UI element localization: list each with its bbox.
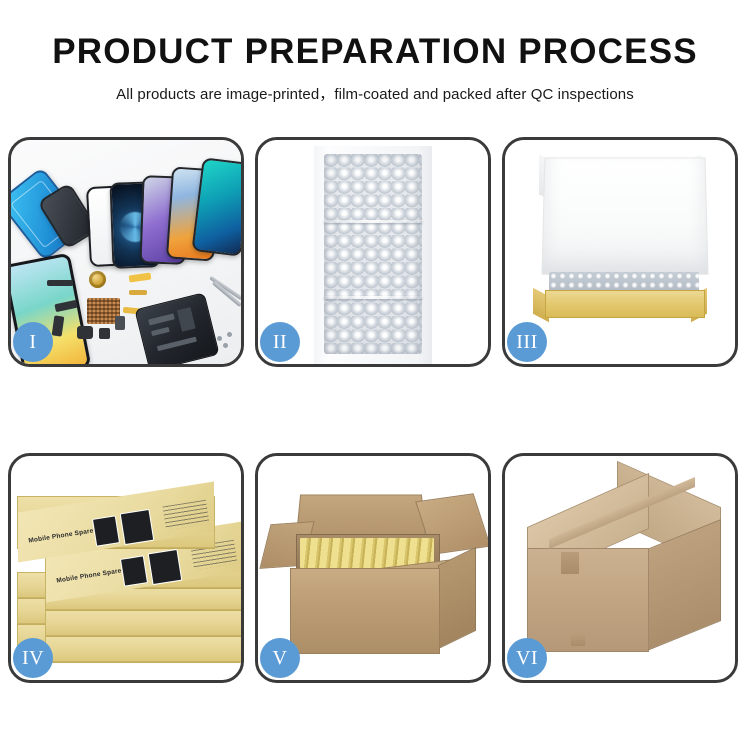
copper-coil-icon [89,271,106,288]
kraft-box-edge-icon [45,608,241,636]
vibrator-icon [115,316,125,330]
carton-flap-back-icon [296,494,427,539]
kraft-tray-front-icon [545,290,705,318]
step-badge-3: III [507,322,547,362]
page-title: PRODUCT PREPARATION PROCESS [0,34,750,71]
bubble-wrap-film-icon [314,146,432,364]
step-badge-2: II [260,322,300,362]
step-panel-6[interactable]: Sealed and taped shipping carton ready f… [502,453,738,683]
step-badge-6: VI [507,638,547,678]
step-badge-1: I [13,322,53,362]
carton-flap-tab-icon [571,634,585,646]
step-badge-4: IV [13,638,53,678]
step-badge-5: V [260,638,300,678]
process-steps-grid: Mobile phone screens and spare parts lai… [8,137,742,683]
kraft-box-stack-icon: Mobile Phone Spare Parts Mobile Phone Sp… [17,474,241,670]
screw-icon [227,332,232,337]
white-box-lid-icon [541,157,708,274]
kraft-box-product-image [120,509,155,545]
page-subtitle: All products are image-printed，film-coat… [0,83,750,104]
kraft-box-labelled-icon: Mobile Phone Spare Parts [17,496,215,548]
bubble-wrap-sheet-icon [324,154,422,354]
bubble-wrap-seam-icon [324,296,422,299]
step-panel-1[interactable]: Mobile phone screens and spare parts lai… [8,137,244,367]
speaker-icon [77,326,93,339]
carton-side-face-icon [438,547,476,650]
step-panel-3[interactable]: Bubble wrapped items placed in white and… [502,137,738,367]
camera-module-icon [99,328,110,339]
carton-front-face-icon [527,548,649,652]
step-panel-4[interactable]: Mobile Phone Spare Parts Mobile Phone Sp… [8,453,244,683]
kraft-box-product-image [92,515,120,546]
screw-icon [217,336,222,341]
battery-strip-icon [47,280,73,286]
carton-front-face-icon [290,568,440,654]
bubble-wrap-seam-icon [324,220,422,223]
kraft-box-product-image [120,555,148,586]
page-header: PRODUCT PREPARATION PROCESS All products… [0,0,750,104]
carton-flap-tab-icon [561,552,579,574]
step-panel-2[interactable]: Product sealed in bubble wrap film II [255,137,491,367]
kraft-box-edge-icon [45,634,241,662]
screw-icon [223,343,228,348]
kraft-box-product-image [148,549,183,585]
step-panel-5[interactable]: Retail boxes packed into an open shippin… [255,453,491,683]
button-flex-icon [129,290,147,295]
